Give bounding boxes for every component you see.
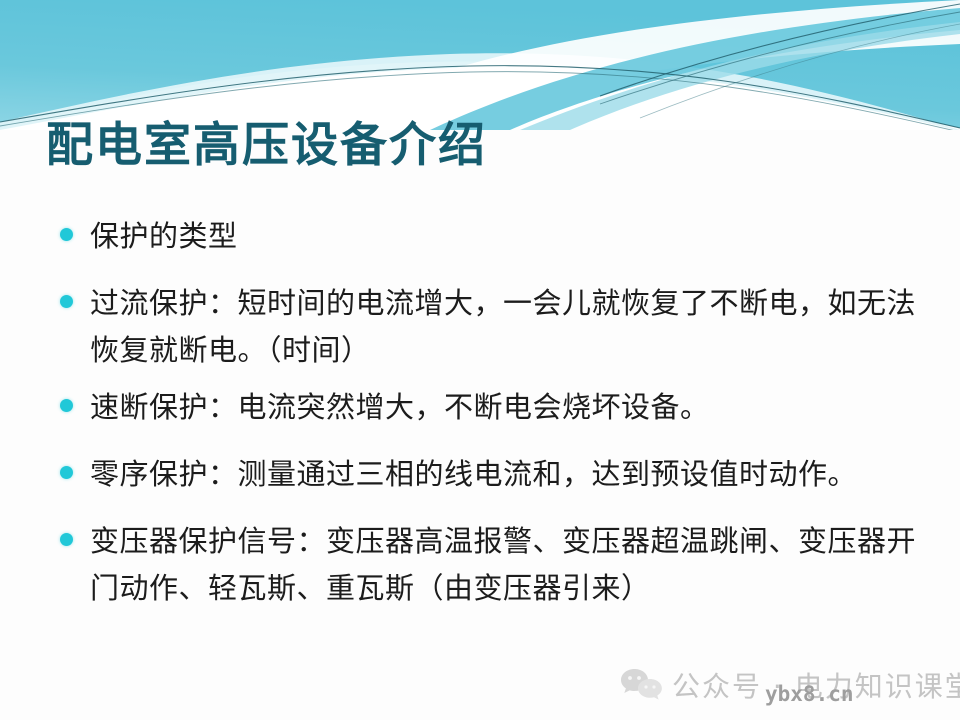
slide-title: 配电室高压设备介绍 [46,118,487,174]
bullet-text-3: 速断保护：电流突然增大，不断电会烧坏设备。 [90,385,932,432]
bullet-text-4: 零序保护：测量通过三相的线电流和，达到预设值时动作。 [90,452,932,499]
presentation-slide: 配电室高压设备介绍 保护的类型 过流保护：短时间的电流增大，一会儿就恢复了不断电… [0,0,960,720]
bullet-text-1: 保护的类型 [90,214,932,261]
bullet-marker-icon [60,533,73,546]
watermark-url: ybx8.cn [765,682,854,706]
bullet-marker-icon [60,466,73,479]
bullet-item-3: 速断保护：电流突然增大，不断电会烧坏设备。 [52,385,932,432]
bullet-item-2: 过流保护：短时间的电流增大，一会儿就恢复了不断电，如无法恢复就断电。（时间） [52,281,932,375]
bullet-item-4: 零序保护：测量通过三相的线电流和，达到预设值时动作。 [52,452,932,499]
bullet-item-5: 变压器保护信号：变压器高温报警、变压器超温跳闸、变压器开门动作、轻瓦斯、重瓦斯（… [52,519,932,613]
bullet-text-5: 变压器保护信号：变压器高温报警、变压器超温跳闸、变压器开门动作、轻瓦斯、重瓦斯（… [90,519,932,613]
wechat-icon [620,668,664,702]
header-wave-banner [0,0,960,130]
bullet-item-1: 保护的类型 [52,214,932,261]
wave-graphic [0,0,960,130]
bullet-marker-icon [60,295,73,308]
bullet-text-2: 过流保护：短时间的电流增大，一会儿就恢复了不断电，如无法恢复就断电。（时间） [90,281,932,375]
bullet-list: 保护的类型 过流保护：短时间的电流增大，一会儿就恢复了不断电，如无法恢复就断电。… [52,214,932,623]
bullet-marker-icon [60,228,73,241]
bullet-marker-icon [60,399,73,412]
